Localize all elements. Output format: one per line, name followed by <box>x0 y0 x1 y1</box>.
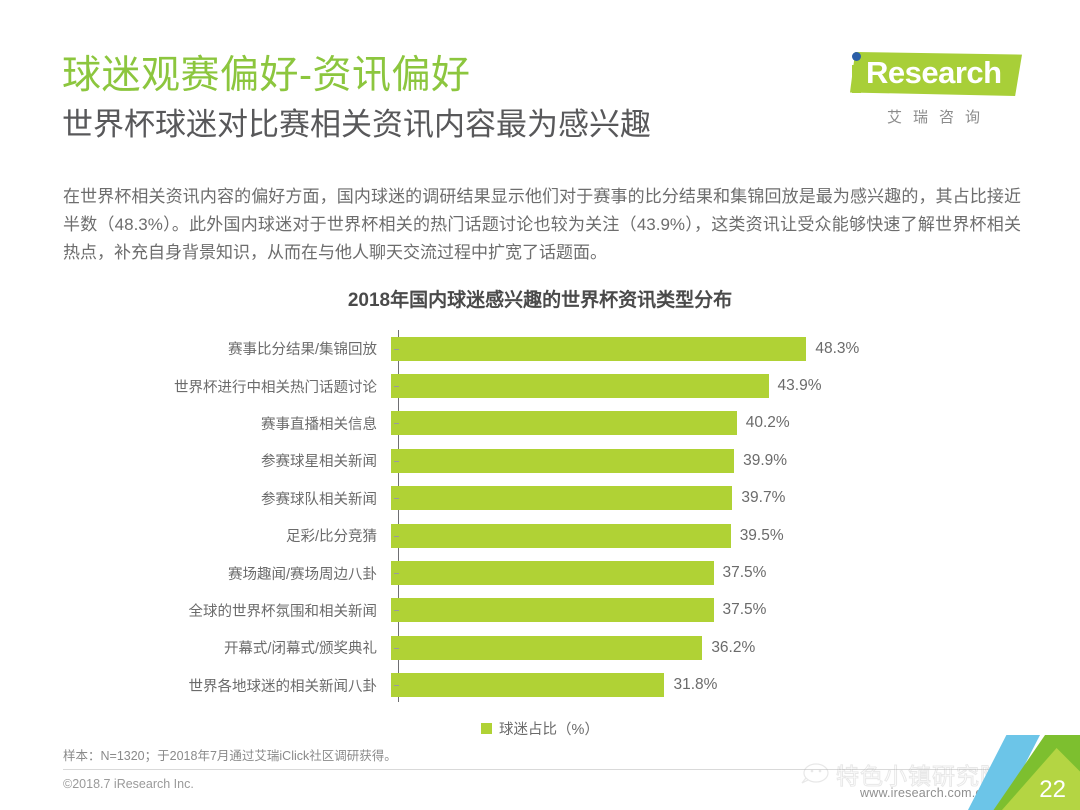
bar-category-label: 开幕式/闭幕式/颁奖典礼 <box>63 637 391 658</box>
bar-category-label: 参赛球队相关新闻 <box>63 488 391 509</box>
legend-label: 球迷占比（%） <box>499 718 599 739</box>
axis-tick <box>394 423 399 424</box>
bar-value-label: 37.5% <box>714 564 767 582</box>
bar-value-label: 39.5% <box>731 527 784 545</box>
bar-value-label: 31.8% <box>664 676 717 694</box>
bar-category-label: 参赛球星相关新闻 <box>63 450 391 471</box>
logo-chinese-name: 艾瑞咨询 <box>822 106 1022 127</box>
bar-value-label: 39.9% <box>734 452 787 470</box>
axis-tick <box>394 648 399 649</box>
page-title: 球迷观赛偏好-资讯偏好 <box>62 52 862 100</box>
iresearch-logo: Research 艾瑞咨询 <box>822 44 1022 130</box>
bar-category-label: 世界杯进行中相关热门话题讨论 <box>63 376 391 397</box>
logo-mark: Research <box>822 44 1022 100</box>
bar-row: 全球的世界杯氛围和相关新闻37.5% <box>63 592 1021 629</box>
slide-header: 球迷观赛偏好-资讯偏好 世界杯球迷对比赛相关资讯内容最为感兴趣 <box>62 52 862 146</box>
bar-value-label: 39.7% <box>732 489 785 507</box>
bar-category-label: 世界各地球迷的相关新闻八卦 <box>63 675 391 696</box>
bar-category-label: 赛事比分结果/集锦回放 <box>63 338 391 359</box>
bar-value-label: 37.5% <box>714 601 767 619</box>
logo-wordmark: Research <box>866 55 1002 91</box>
axis-tick <box>394 685 399 686</box>
bar-category-label: 赛事直播相关信息 <box>63 413 391 434</box>
bar-row: 赛事比分结果/集锦回放48.3% <box>63 330 1021 367</box>
axis-tick <box>394 573 399 574</box>
bar <box>391 598 714 622</box>
bar <box>391 486 732 510</box>
legend-swatch-icon <box>481 723 492 734</box>
bar <box>391 524 731 548</box>
logo-i-dot-icon <box>852 52 861 61</box>
axis-tick <box>394 498 399 499</box>
source-footnote: 样本：N=1320；于2018年7月通过艾瑞iClick社区调研获得。 <box>63 745 397 764</box>
chart-title: 2018年国内球迷感兴趣的世界杯资讯类型分布 <box>0 285 1080 312</box>
bar-row: 开幕式/闭幕式/颁奖典礼36.2% <box>63 629 1021 666</box>
logo-i-stem-icon <box>852 65 861 93</box>
bar-value-label: 48.3% <box>806 340 859 358</box>
bar <box>391 636 702 660</box>
body-paragraph: 在世界杯相关资讯内容的偏好方面，国内球迷的调研结果显示他们对于赛事的比分结果和集… <box>63 183 1021 267</box>
bar-chart: 赛事比分结果/集锦回放48.3%世界杯进行中相关热门话题讨论43.9%赛事直播相… <box>63 330 1021 705</box>
axis-tick <box>394 386 399 387</box>
page-subtitle: 世界杯球迷对比赛相关资讯内容最为感兴趣 <box>62 104 862 146</box>
bar <box>391 673 664 697</box>
bar-row: 世界杯进行中相关热门话题讨论43.9% <box>63 367 1021 404</box>
bar <box>391 411 737 435</box>
chat-bubble-icon <box>800 763 830 785</box>
axis-tick <box>394 610 399 611</box>
bar-row: 参赛球星相关新闻39.9% <box>63 442 1021 479</box>
copyright-text: ©2018.7 iResearch Inc. <box>63 777 194 791</box>
bar-value-label: 43.9% <box>769 377 822 395</box>
bar-row: 世界各地球迷的相关新闻八卦31.8% <box>63 667 1021 704</box>
bar-rows: 赛事比分结果/集锦回放48.3%世界杯进行中相关热门话题讨论43.9%赛事直播相… <box>63 330 1021 704</box>
bar-row: 赛场趣闻/赛场周边八卦37.5% <box>63 554 1021 591</box>
bar-value-label: 36.2% <box>702 639 755 657</box>
chart-legend: 球迷占比（%） <box>0 718 1080 739</box>
bar <box>391 561 714 585</box>
page-number: 22 <box>1039 776 1066 804</box>
bar <box>391 449 734 473</box>
axis-tick <box>394 461 399 462</box>
axis-tick <box>394 349 399 350</box>
bar-row: 赛事直播相关信息40.2% <box>63 405 1021 442</box>
bar-row: 参赛球队相关新闻39.7% <box>63 480 1021 517</box>
bar <box>391 374 769 398</box>
bar-row: 足彩/比分竞猜39.5% <box>63 517 1021 554</box>
bar-category-label: 全球的世界杯氛围和相关新闻 <box>63 600 391 621</box>
axis-tick <box>394 536 399 537</box>
bar-value-label: 40.2% <box>737 414 790 432</box>
bar-category-label: 赛场趣闻/赛场周边八卦 <box>63 563 391 584</box>
bar-category-label: 足彩/比分竞猜 <box>63 525 391 546</box>
bar <box>391 337 806 361</box>
